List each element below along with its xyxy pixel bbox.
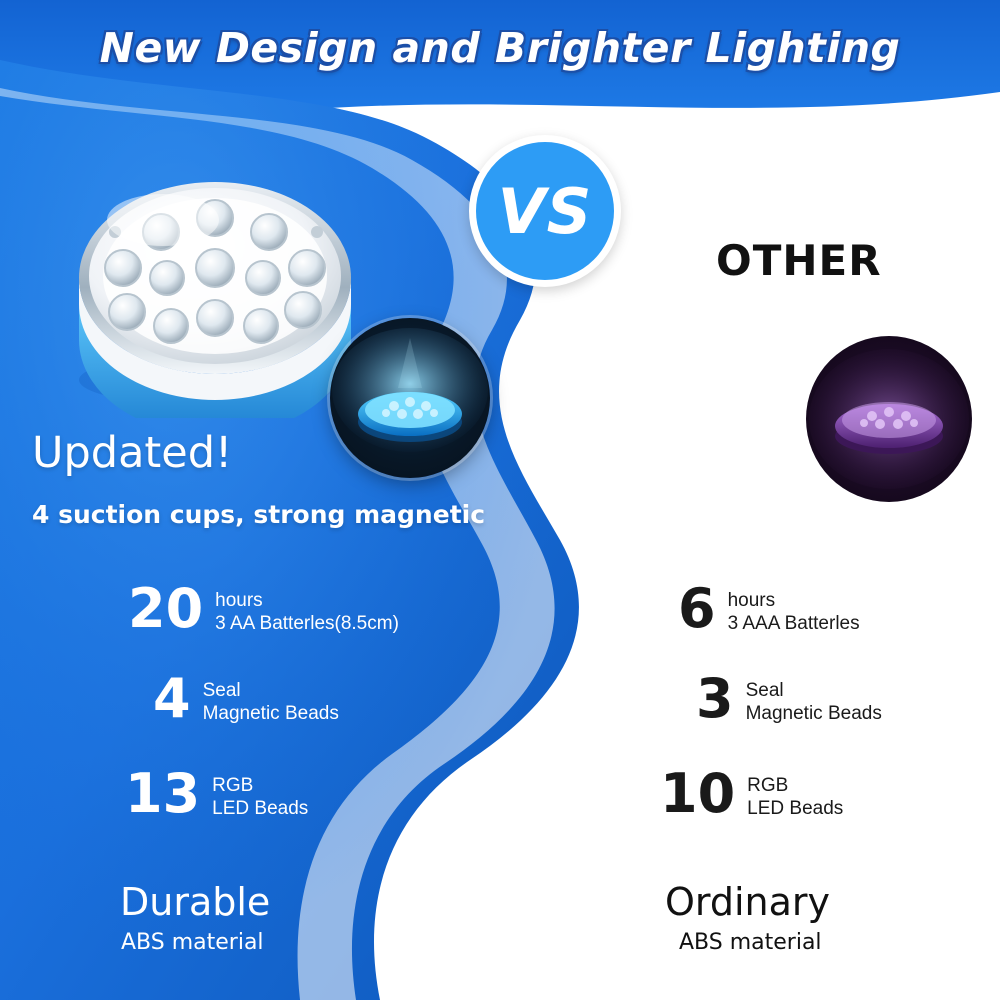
spec-text: Seal Magnetic Beads [203, 673, 339, 725]
spec-line2: LED Beads [747, 797, 843, 820]
spec-line1: hours [215, 589, 399, 612]
vs-label: VS [498, 175, 593, 248]
product-image-updated-light [55, 128, 375, 418]
spec-row-left-0: 20 hours 3 AA Batterles(8.5cm) [128, 583, 399, 635]
updated-subtitle: 4 suction cups, strong magnetic [32, 500, 485, 529]
page-title: New Design and Brighter Lighting [0, 24, 1000, 72]
spec-row-left-2: 13 RGB LED Beads [125, 768, 308, 820]
spec-number: 20 [128, 583, 203, 634]
glowing-light-graphic [330, 318, 490, 478]
purple-light-graphic [806, 336, 972, 502]
spec-text: hours 3 AAA Batterles [728, 583, 860, 635]
spec-line1: hours [728, 589, 860, 612]
spec-number: 10 [660, 768, 735, 819]
vs-badge: VS [469, 135, 621, 287]
spec-number: 3 [696, 673, 734, 724]
spec-line2: Magnetic Beads [746, 702, 882, 725]
spec-line1: RGB [212, 774, 308, 797]
left-footer-title: Durable [120, 880, 270, 924]
spec-text: hours 3 AA Batterles(8.5cm) [215, 583, 399, 635]
spec-number: 6 [678, 583, 716, 634]
glowing-light-inset [330, 318, 490, 478]
spec-number: 13 [125, 768, 200, 819]
spec-text: Seal Magnetic Beads [746, 673, 882, 725]
spec-line2: Magnetic Beads [203, 702, 339, 725]
spec-row-left-1: 4 Seal Magnetic Beads [153, 673, 339, 725]
other-product-image [806, 336, 972, 502]
spec-text: RGB LED Beads [747, 768, 843, 820]
spec-row-right-2: 10 RGB LED Beads [660, 768, 843, 820]
spec-row-right-0: 6 hours 3 AAA Batterles [678, 583, 860, 635]
right-footer-title: Ordinary [665, 880, 830, 924]
spec-line2: LED Beads [212, 797, 308, 820]
right-footer-subtitle: ABS material [679, 930, 822, 955]
spec-line1: RGB [747, 774, 843, 797]
promo-banner: New Design and Brighter Lighting [0, 0, 1000, 1000]
spec-row-right-1: 3 Seal Magnetic Beads [696, 673, 882, 725]
spec-line2: 3 AAA Batterles [728, 612, 860, 635]
other-title: OTHER [716, 236, 882, 285]
spec-line1: Seal [203, 679, 339, 702]
spec-text: RGB LED Beads [212, 768, 308, 820]
updated-badge: Updated! [32, 428, 232, 478]
spec-line1: Seal [746, 679, 882, 702]
spec-line2: 3 AA Batterles(8.5cm) [215, 612, 399, 635]
left-footer-subtitle: ABS material [121, 930, 264, 955]
spec-number: 4 [153, 673, 191, 724]
